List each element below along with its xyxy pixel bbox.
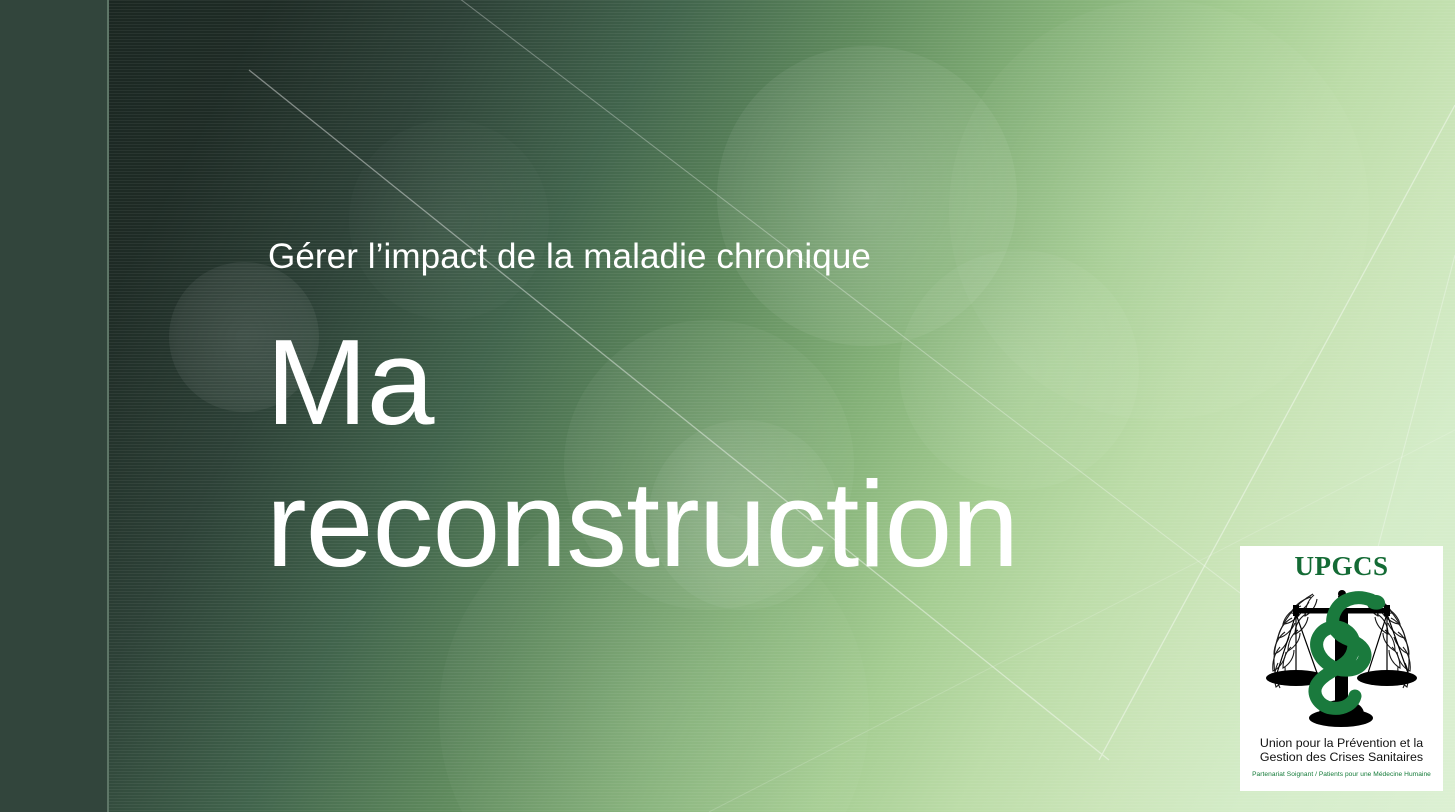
presentation-slide: Gérer l’impact de la maladie chronique M… bbox=[0, 0, 1455, 812]
slide-title-line-1: Ma bbox=[266, 312, 1096, 454]
upgcs-organisation-name: Union pour la Prévention et la Gestion d… bbox=[1246, 736, 1437, 765]
slide-subtitle: Gérer l’impact de la maladie chronique bbox=[268, 237, 871, 277]
scales-and-serpent-icon bbox=[1251, 578, 1432, 732]
slide-background: Gérer l’impact de la maladie chronique M… bbox=[109, 0, 1455, 812]
upgcs-tagline: Partenariat Soignant / Patients pour une… bbox=[1244, 771, 1439, 778]
slide-left-accent-band bbox=[0, 0, 107, 812]
slide-title: Ma reconstruction bbox=[266, 312, 1096, 595]
upgcs-logo-card: UPGCS bbox=[1240, 546, 1443, 791]
bokeh-circle-decoration bbox=[349, 120, 549, 320]
upgcs-organisation-line-1: Union pour la Prévention et la bbox=[1246, 736, 1437, 750]
slide-title-line-2: reconstruction bbox=[266, 454, 1096, 596]
bokeh-circle-decoration bbox=[717, 46, 1017, 346]
upgcs-organisation-line-2: Gestion des Crises Sanitaires bbox=[1246, 750, 1437, 764]
